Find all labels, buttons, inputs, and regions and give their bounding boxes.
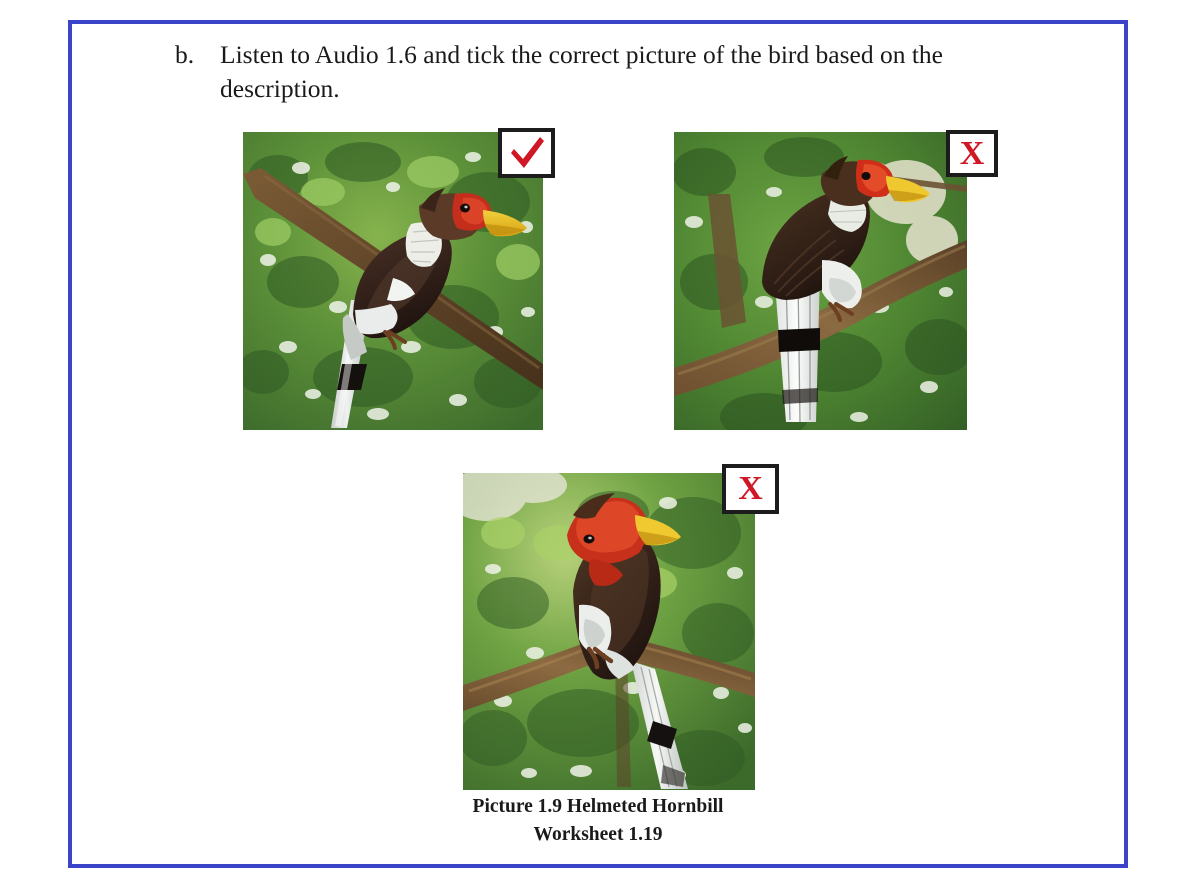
hornbill-illustration-3 xyxy=(463,473,755,790)
caption-picture-label: Picture 1.9 Helmeted Hornbill xyxy=(473,796,724,817)
instruction-block: b. Listen to Audio 1.6 and tick the corr… xyxy=(175,38,1055,105)
answer-mark-option-3[interactable]: X xyxy=(722,464,779,514)
answer-mark-option-2[interactable]: X xyxy=(946,130,998,177)
answer-mark-option-1[interactable] xyxy=(498,128,555,178)
bird-option-2-image[interactable] xyxy=(674,132,967,430)
bird-option-3-image[interactable] xyxy=(463,473,755,790)
hornbill-illustration-2 xyxy=(674,132,967,430)
figure-caption: Picture 1.9 Helmeted Hornbill Worksheet … xyxy=(68,793,1128,848)
instruction-text: Listen to Audio 1.6 and tick the correct… xyxy=(220,38,1055,105)
cross-icon: X xyxy=(960,137,985,171)
check-icon xyxy=(507,135,547,171)
list-marker: b. xyxy=(175,38,220,72)
caption-worksheet-label: Worksheet 1.19 xyxy=(68,821,1128,849)
cross-icon: X xyxy=(738,472,763,506)
